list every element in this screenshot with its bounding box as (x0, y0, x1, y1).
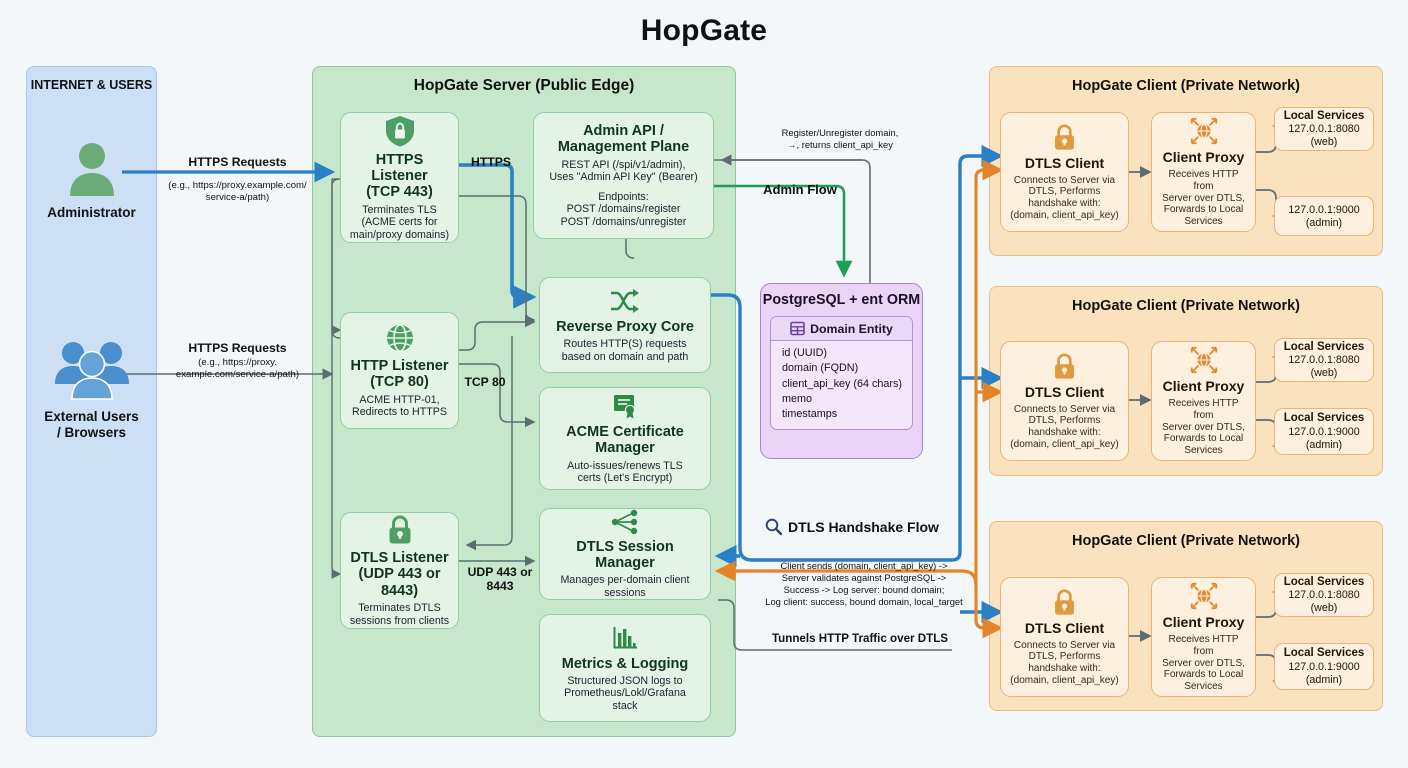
dtls-client-1-sub: Connects to Server viaDTLS, Performshand… (1010, 175, 1118, 222)
node-dtls-listener[interactable]: DTLS Listener(UDP 443 or 8443) Terminate… (340, 512, 459, 629)
node-local-service-2a[interactable]: Local Services 127.0.0.1:8080(web) (1274, 338, 1374, 382)
entity-field: domain (FQDN) (782, 361, 912, 376)
external-users-label: External Users/ Browsers (26, 409, 157, 441)
edge-sub-admin-https: (e.g., https://proxy.example.com/service… (130, 180, 345, 203)
node-http-listener[interactable]: HTTP Listener(TCP 80) ACME HTTP-01,Redir… (340, 312, 459, 429)
admin-api-endpoints: Endpoints:POST /domains/registerPOST /do… (561, 191, 687, 229)
share-nodes-icon (609, 509, 641, 535)
node-metrics-logging[interactable]: Metrics & Logging Structured JSON logs t… (539, 614, 711, 722)
register-unregister-note: Register/Unregister domain,→, returns cl… (730, 127, 950, 151)
client-proxy-1-title: Client Proxy (1163, 150, 1245, 166)
node-dtls-client-2[interactable]: DTLS Client Connects to Server viaDTLS, … (1000, 341, 1129, 461)
network-hub-icon (1189, 345, 1219, 375)
admin-api-title: Admin API /Management Plane (558, 123, 689, 156)
node-dtls-client-3[interactable]: DTLS Client Connects to Server viaDTLS, … (1000, 577, 1129, 697)
globe-icon (384, 322, 416, 354)
local-service-1b-sub: 127.0.0.1:9000(admin) (1288, 204, 1359, 229)
network-hub-icon (1189, 116, 1219, 146)
node-local-service-2b[interactable]: Local Services 127.0.0.1:9000(admin) (1274, 408, 1374, 455)
local-service-2b-title: Local Services (1284, 412, 1365, 425)
dtls-client-2-sub: Connects to Server viaDTLS, Performshand… (1010, 404, 1118, 451)
zone-client-2-label: HopGate Client (Private Network) (990, 298, 1382, 314)
zone-client-3-label: HopGate Client (Private Network) (990, 533, 1382, 549)
entity-field: timestamps (782, 407, 912, 422)
dtls-client-2-title: DTLS Client (1025, 385, 1104, 401)
edge-label-udp: UDP 443 or8443 (463, 565, 537, 593)
padlock-icon (385, 514, 415, 546)
dtls-client-3-title: DTLS Client (1025, 621, 1104, 637)
admin-flow-label: Admin Flow (745, 182, 855, 197)
padlock-icon (1051, 588, 1078, 617)
client-proxy-3-title: Client Proxy (1163, 615, 1245, 631)
zone-server-label: HopGate Server (Public Edge) (313, 77, 735, 95)
node-reverse-proxy-core[interactable]: Reverse Proxy Core Routes HTTP(S) reques… (539, 277, 711, 373)
node-admin-api[interactable]: Admin API /Management Plane REST API (/s… (533, 112, 714, 239)
diagram-canvas: HopGate INTERNET & USERS HopGate Server … (0, 0, 1408, 768)
dtls-client-1-title: DTLS Client (1025, 156, 1104, 172)
page-title: HopGate (0, 14, 1408, 48)
https-listener-title: HTTPS Listener(TCP 443) (348, 152, 451, 201)
shield-lock-icon (383, 114, 417, 148)
client-proxy-1-sub: Receives HTTP fromServer over DTLS,Forwa… (1159, 169, 1248, 227)
domain-entity-card: Domain Entity id (UUID) domain (FQDN) cl… (770, 316, 913, 430)
domain-entity-header: Domain Entity (771, 317, 912, 341)
person-icon (62, 140, 122, 196)
shuffle-icon (608, 287, 642, 315)
dtls-handshake-flow-label: DTLS Handshake Flow (788, 519, 939, 535)
dtls-handshake-flow-title: DTLS Handshake Flow (765, 518, 939, 535)
zone-client-1-label: HopGate Client (Private Network) (990, 78, 1382, 94)
local-service-2a-title: Local Services (1284, 341, 1365, 354)
dtls-session-manager-title: DTLS Session Manager (547, 539, 703, 572)
edge-label-admin-https: HTTPS Requests (130, 155, 345, 169)
node-local-service-3a[interactable]: Local Services 127.0.0.1:8080(web) (1274, 573, 1374, 617)
edge-label-user-https: HTTPS Requests (130, 341, 345, 355)
node-dtls-session-manager[interactable]: DTLS Session Manager Manages per-domain … (539, 508, 711, 600)
reverse-proxy-core-title: Reverse Proxy Core (556, 319, 694, 335)
node-local-service-3b[interactable]: Local Services 127.0.0.1:9000(admin) (1274, 643, 1374, 690)
tunnel-label: Tunnels HTTP Traffic over DTLS (700, 632, 1020, 645)
reverse-proxy-core-sub: Routes HTTP(S) requestsbased on domain a… (562, 338, 689, 363)
certificate-icon (611, 392, 639, 420)
local-service-1a-title: Local Services (1284, 110, 1365, 123)
dtls-session-manager-sub: Manages per-domain clientsessions (561, 574, 690, 599)
domain-entity-field-list: id (UUID) domain (FQDN) client_api_key (… (771, 341, 912, 429)
padlock-icon (1051, 352, 1078, 381)
entity-field: client_api_key (64 chars) (782, 377, 912, 392)
node-dtls-client-1[interactable]: DTLS Client Connects to Server viaDTLS, … (1000, 112, 1129, 232)
node-https-listener[interactable]: HTTPS Listener(TCP 443) Terminates TLS(A… (340, 112, 459, 243)
client-proxy-3-sub: Receives HTTP fromServer over DTLS,Forwa… (1159, 634, 1248, 692)
local-service-1a-sub: 127.0.0.1:8080(web) (1288, 123, 1359, 148)
edge-label-https: HTTPS (459, 155, 523, 169)
edge-sub-user-https: (e.g., https://proxy.example.com/service… (130, 357, 345, 380)
metrics-logging-title: Metrics & Logging (562, 656, 688, 672)
node-local-service-1a[interactable]: Local Services 127.0.0.1:8080(web) (1274, 107, 1374, 151)
local-service-3b-title: Local Services (1284, 647, 1365, 660)
table-icon (790, 321, 805, 336)
local-service-2b-sub: 127.0.0.1:9000(admin) (1288, 426, 1359, 451)
node-local-service-1b[interactable]: 127.0.0.1:9000(admin) (1274, 196, 1374, 236)
domain-entity-name: Domain Entity (810, 322, 893, 336)
node-client-proxy-3[interactable]: Client Proxy Receives HTTP fromServer ov… (1151, 577, 1256, 697)
bar-chart-icon (611, 624, 639, 652)
node-client-proxy-1[interactable]: Client Proxy Receives HTTP fromServer ov… (1151, 112, 1256, 232)
local-service-3a-title: Local Services (1284, 576, 1365, 589)
padlock-icon (1051, 123, 1078, 152)
local-service-3b-sub: 127.0.0.1:9000(admin) (1288, 661, 1359, 686)
node-client-proxy-2[interactable]: Client Proxy Receives HTTP fromServer ov… (1151, 341, 1256, 461)
entity-field: memo (782, 392, 912, 407)
http-listener-title: HTTP Listener(TCP 80) (350, 358, 448, 391)
entity-field: id (UUID) (782, 346, 912, 361)
administrator-label: Administrator (26, 205, 157, 221)
database-title: PostgreSQL + ent ORM (761, 292, 922, 308)
edge-label-tcp80: TCP 80 (455, 375, 515, 389)
https-listener-sub: Terminates TLS(ACME certs formain/proxy … (350, 204, 449, 242)
people-icon (53, 338, 131, 400)
magnifier-icon (765, 518, 782, 535)
dtls-handshake-detail: Client sends (domain, client_api_key) ->… (728, 560, 1000, 607)
metrics-logging-sub: Structured JSON logs toPrometheus/Lokl/G… (564, 675, 686, 713)
local-service-2a-sub: 127.0.0.1:8080(web) (1288, 354, 1359, 379)
dtls-client-3-sub: Connects to Server viaDTLS, Performshand… (1010, 640, 1118, 687)
node-acme-certificate-manager[interactable]: ACME CertificateManager Auto-issues/rene… (539, 387, 711, 490)
acme-certificate-manager-title: ACME CertificateManager (566, 424, 684, 457)
dtls-listener-title: DTLS Listener(UDP 443 or 8443) (348, 550, 451, 599)
acme-certificate-manager-sub: Auto-issues/renews TLScerts (Let's Encry… (567, 460, 683, 485)
dtls-listener-sub: Terminates DTLSsessions from clients (350, 602, 449, 627)
node-postgresql-ent-orm[interactable]: PostgreSQL + ent ORM Domain Entity id (U… (760, 283, 923, 459)
http-listener-sub: ACME HTTP-01,Redirects to HTTPS (352, 394, 447, 419)
admin-api-sub: REST API (/spi/v1/admin),Uses "Admin API… (549, 159, 697, 184)
zone-internet-label: INTERNET & USERS (27, 78, 156, 92)
client-proxy-2-sub: Receives HTTP fromServer over DTLS,Forwa… (1159, 398, 1248, 456)
client-proxy-2-title: Client Proxy (1163, 379, 1245, 395)
local-service-3a-sub: 127.0.0.1:8080(web) (1288, 589, 1359, 614)
network-hub-icon (1189, 581, 1219, 611)
